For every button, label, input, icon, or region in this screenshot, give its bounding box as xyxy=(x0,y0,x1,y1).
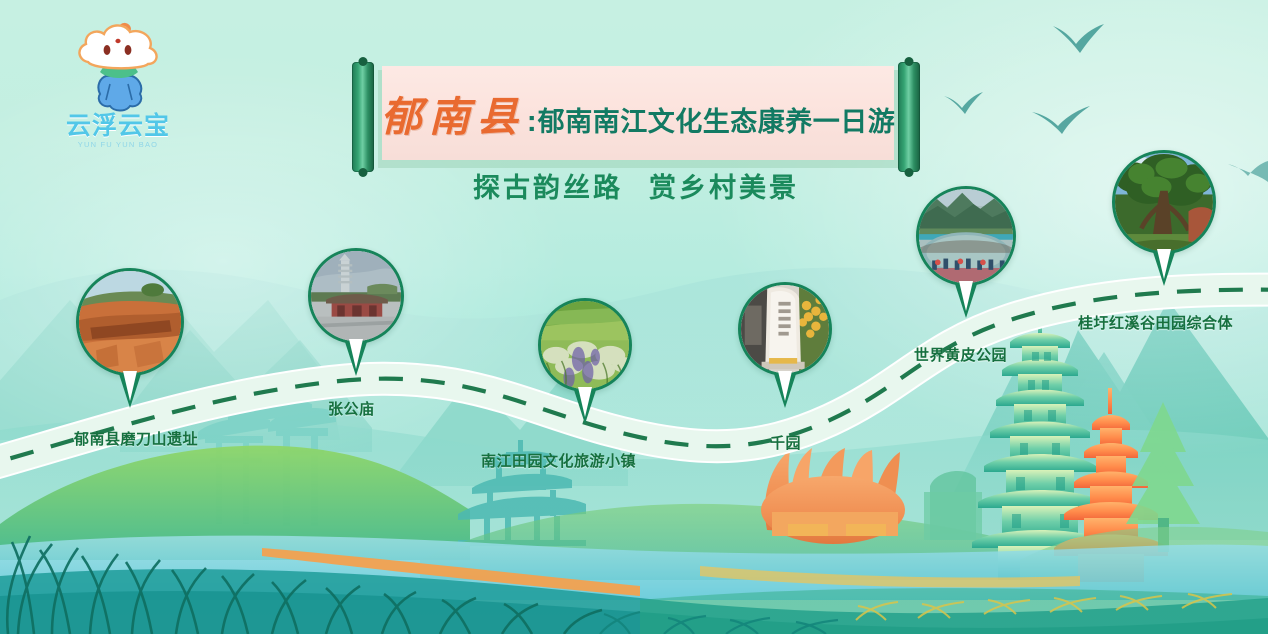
stop-photo-5[interactable] xyxy=(916,186,1016,286)
stop-label-1: 郁南县磨刀山遗址 xyxy=(74,428,198,449)
scroll-rod-right xyxy=(898,62,920,172)
stop-marker-1[interactable]: 郁南县磨刀山遗址 xyxy=(76,268,184,376)
stop-label-2: 张公庙 xyxy=(328,398,375,419)
scroll-paper: 郁南县:郁南南江文化生态康养一日游 xyxy=(382,66,894,160)
stop-label-5: 世界黄皮公园 xyxy=(914,344,1007,365)
stop-marker-4[interactable]: 千园 xyxy=(738,282,832,376)
stop-marker-5[interactable]: 世界黄皮公园 xyxy=(916,186,1016,286)
poster-subtitle: 探古韵丝路赏乡村美景 xyxy=(352,166,920,205)
stop-photo-1[interactable] xyxy=(76,268,184,376)
stop-label-4: 千园 xyxy=(770,432,801,453)
banner-county: 郁南县 xyxy=(381,83,525,143)
banner-colon: : xyxy=(527,105,537,139)
logo-name-cn: 云浮云宝 xyxy=(48,114,188,139)
stop-photo-2[interactable] xyxy=(308,248,404,344)
brand-logo: 云浮云宝 YUN FU YUN BAO xyxy=(48,14,188,150)
stop-label-3: 南江田园文化旅游小镇 xyxy=(481,450,636,471)
banner-route-title: 郁南南江文化生态康养一日游 xyxy=(538,100,896,139)
scroll-rod-left xyxy=(352,62,374,172)
logo-name-pinyin: YUN FU YUN BAO xyxy=(48,140,188,149)
stop-photo-4[interactable] xyxy=(738,282,832,376)
cloud-mascot-icon xyxy=(66,14,170,118)
stop-marker-6[interactable]: 桂圩红溪谷田园综合体 xyxy=(1112,150,1216,254)
subtitle-right: 赏乡村美景 xyxy=(649,173,799,204)
stop-marker-2[interactable]: 张公庙 xyxy=(308,248,404,344)
stop-label-6: 桂圩红溪谷田园综合体 xyxy=(1078,312,1233,333)
stop-marker-3[interactable]: 南江田园文化旅游小镇 xyxy=(538,298,632,392)
tourism-route-poster: 云浮云宝 YUN FU YUN BAO 郁南县:郁南南江文化生态康养一日游 探古… xyxy=(0,0,1268,634)
subtitle-left: 探古韵丝路 xyxy=(473,173,623,204)
stop-photo-6[interactable] xyxy=(1112,150,1216,254)
stop-photo-3[interactable] xyxy=(538,298,632,392)
title-scroll-banner: 郁南县:郁南南江文化生态康养一日游 xyxy=(352,62,920,172)
